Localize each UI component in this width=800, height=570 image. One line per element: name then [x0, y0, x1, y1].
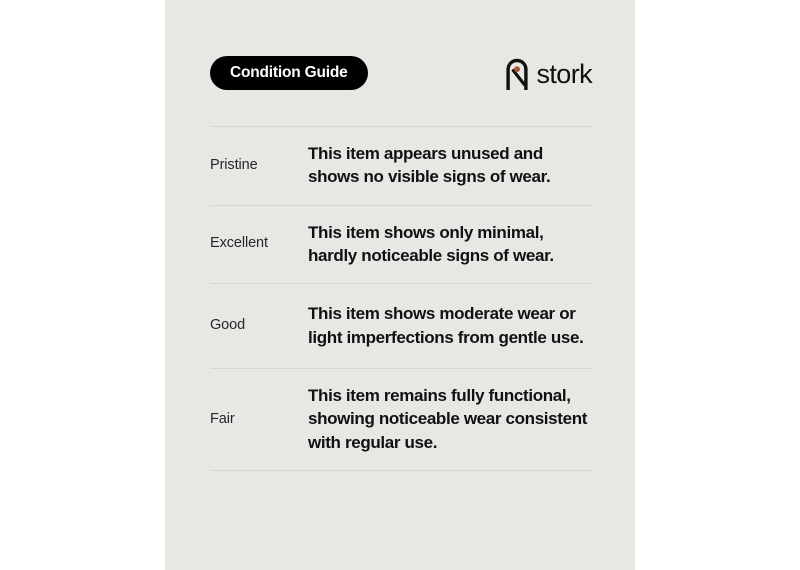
- brand-lockup: stork: [505, 56, 592, 92]
- stork-arch-logo-icon: [505, 58, 529, 90]
- condition-label: Fair: [210, 410, 308, 429]
- card-header: Condition Guide stork: [210, 56, 592, 92]
- page-root: Condition Guide stork Pristine This item…: [0, 0, 800, 570]
- table-row: Fair This item remains fully functional,…: [210, 369, 592, 470]
- condition-table: Pristine This item appears unused and sh…: [210, 126, 592, 471]
- condition-label: Pristine: [210, 156, 308, 175]
- brand-wordmark: stork: [536, 61, 592, 88]
- condition-label: Excellent: [210, 234, 308, 253]
- table-divider: [210, 470, 592, 471]
- condition-description: This item remains fully functional, show…: [308, 384, 592, 454]
- table-row: Good This item shows moderate wear or li…: [210, 284, 592, 368]
- table-row: Excellent This item shows only minimal, …: [210, 206, 592, 284]
- condition-description: This item shows moderate wear or light i…: [308, 302, 592, 349]
- condition-label: Good: [210, 316, 308, 335]
- table-row: Pristine This item appears unused and sh…: [210, 127, 592, 205]
- condition-description: This item shows only minimal, hardly not…: [308, 221, 592, 268]
- condition-guide-card: Condition Guide stork Pristine This item…: [165, 0, 635, 570]
- condition-description: This item appears unused and shows no vi…: [308, 142, 592, 189]
- condition-guide-badge: Condition Guide: [210, 56, 368, 90]
